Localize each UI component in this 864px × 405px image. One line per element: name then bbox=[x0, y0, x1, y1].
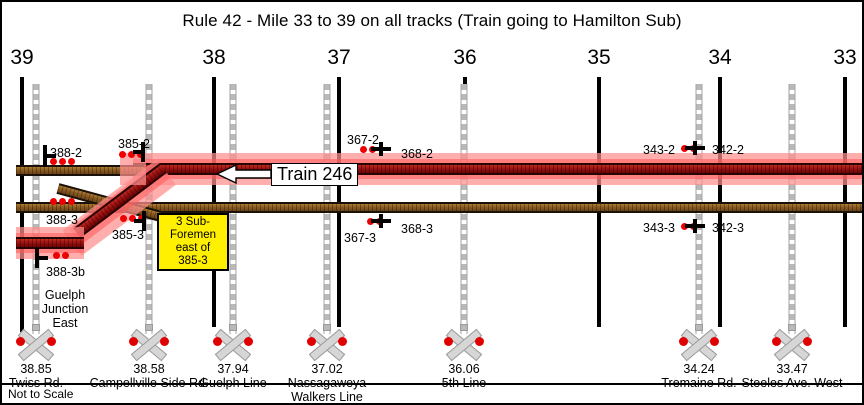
rule-42-track-diagram: Rule 42 - Mile 33 to 39 on all tracks (T… bbox=[0, 0, 864, 405]
signal-label-385-2: 385-2 bbox=[118, 138, 150, 151]
signal-lamp-icon bbox=[360, 146, 367, 153]
signal-lamp-icon bbox=[50, 198, 57, 205]
note-line-2: Foremen bbox=[170, 229, 216, 242]
crossing-mile: 38.85 bbox=[0, 362, 96, 376]
note-line-4: 385-3 bbox=[178, 255, 207, 268]
not-to-scale-note: Not to Scale bbox=[8, 387, 73, 401]
signal-lamps-388-3 bbox=[50, 198, 75, 205]
signal-lamps-388-3b bbox=[53, 252, 69, 259]
crossbuck-icon-38.58 bbox=[127, 332, 171, 358]
train-label: Train 246 bbox=[271, 163, 358, 186]
signal-label-367-2: 367-2 bbox=[347, 134, 379, 147]
signal-label-368-2: 368-2 bbox=[401, 148, 433, 161]
signal-lamps-388-2 bbox=[50, 158, 75, 165]
crossbuck-icon-37.02 bbox=[305, 332, 349, 358]
crossing-mile: 33.47 bbox=[732, 362, 852, 376]
crossing-label-36.06: 36.065th Line bbox=[404, 362, 524, 390]
signal-lamp-icon bbox=[59, 198, 66, 205]
mile-marker-33: 33 bbox=[833, 47, 856, 68]
crossbuck-icon-34.24 bbox=[677, 332, 721, 358]
signal-label-388-3: 388-3 bbox=[46, 214, 78, 227]
location-line-3: East bbox=[52, 316, 77, 330]
mile-marker-34: 34 bbox=[708, 47, 731, 68]
page-title: Rule 42 - Mile 33 to 39 on all tracks (T… bbox=[2, 11, 862, 31]
signal-lamp-icon bbox=[68, 198, 75, 205]
signal-lamp-icon bbox=[120, 215, 127, 222]
mile-marker-36: 36 bbox=[453, 47, 476, 68]
signal-lamp-icon bbox=[59, 158, 66, 165]
signal-mast-arm-388-3b bbox=[39, 256, 48, 260]
crossbuck-icon-37.94 bbox=[211, 332, 255, 358]
signal-mast-bar-367-3 bbox=[371, 219, 391, 223]
sub-foremen-note: 3 Sub- Foremen east of 385-3 bbox=[157, 213, 229, 271]
signal-lamp-icon bbox=[68, 158, 75, 165]
crossbuck-icon-38.85 bbox=[14, 332, 58, 358]
signal-mast-arm-385-3 bbox=[134, 219, 143, 223]
signal-label-385-3: 385-3 bbox=[112, 229, 144, 242]
location-line-1: Guelph bbox=[45, 288, 85, 302]
signal-label-343-2: 343-2 bbox=[643, 144, 675, 157]
crossing-mile: 37.02 bbox=[267, 362, 387, 376]
signal-mast-arm-385-2 bbox=[133, 150, 142, 154]
siding-rail bbox=[16, 237, 84, 249]
train-callout: Train 246 bbox=[216, 163, 358, 185]
footer-divider bbox=[2, 383, 862, 385]
crossbuck-icon-33.47 bbox=[770, 332, 814, 358]
mile-marker-37: 37 bbox=[327, 47, 350, 68]
signal-label-368-3: 368-3 bbox=[401, 223, 433, 236]
note-line-3: east of bbox=[176, 242, 211, 255]
signal-lamp-icon bbox=[50, 158, 57, 165]
signal-label-388-3b: 388-3b bbox=[46, 266, 85, 279]
crossing-label-38.85: 38.85Twiss Rd. bbox=[0, 362, 96, 390]
crossing-label-33.47: 33.47Steeles Ave. West bbox=[732, 362, 852, 390]
signal-label-367-3: 367-3 bbox=[344, 232, 376, 245]
signal-label-342-2: 342-2 bbox=[712, 144, 744, 157]
mile-marker-38: 38 bbox=[202, 47, 225, 68]
signal-label-343-3: 343-3 bbox=[643, 222, 675, 235]
mile-marker-39: 39 bbox=[10, 47, 33, 68]
crossing-name: Nassagaweya Walkers Line bbox=[288, 376, 367, 404]
signal-label-342-3: 342-3 bbox=[712, 222, 744, 235]
signal-mast-bar-367-2 bbox=[371, 147, 391, 151]
signal-mast-bar-343-2 bbox=[685, 146, 705, 150]
signal-lamp-icon bbox=[62, 252, 69, 259]
signal-mast-arm-388-2 bbox=[47, 154, 56, 158]
arrow-left-icon bbox=[216, 164, 272, 184]
note-line-1: 3 Sub- bbox=[176, 216, 210, 229]
location-line-2: Junction bbox=[42, 302, 89, 316]
signal-mast-bar-343-3 bbox=[685, 224, 705, 228]
crossing-mile: 36.06 bbox=[404, 362, 524, 376]
signal-lamp-icon bbox=[119, 151, 126, 158]
signal-lamp-icon bbox=[53, 252, 60, 259]
crossbuck-icon-36.06 bbox=[442, 332, 486, 358]
mile-marker-35: 35 bbox=[587, 47, 610, 68]
